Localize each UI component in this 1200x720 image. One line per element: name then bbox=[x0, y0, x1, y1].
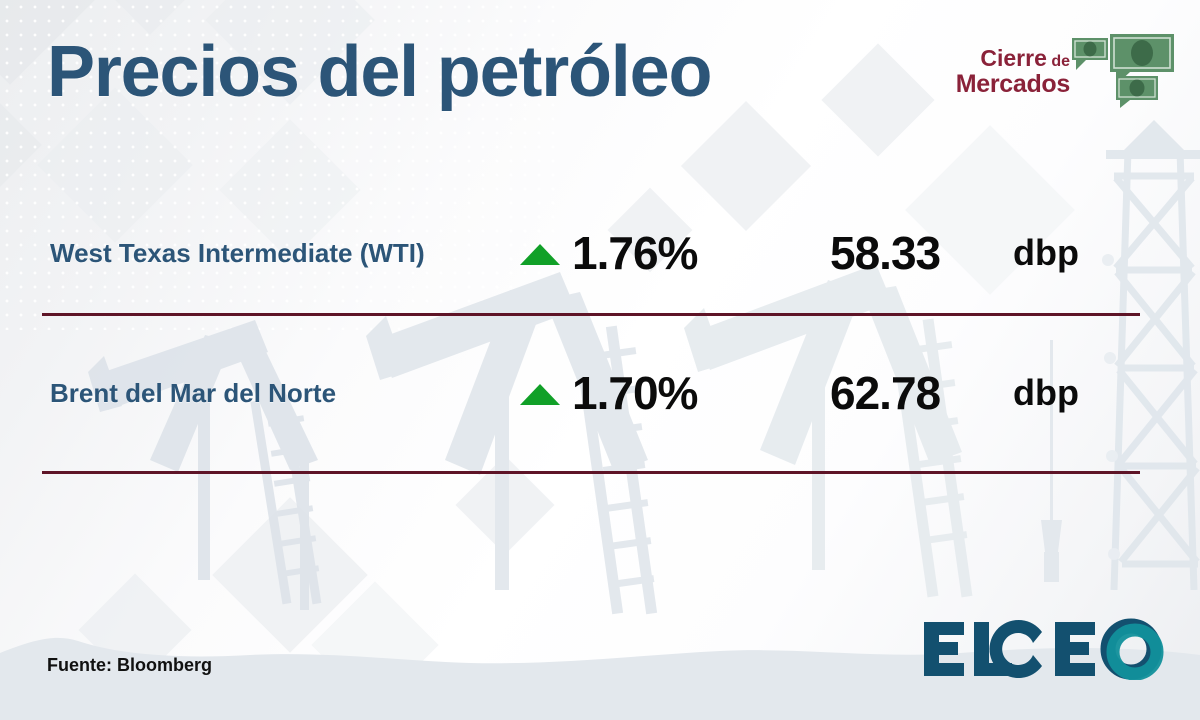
triangle-up-icon bbox=[520, 244, 560, 265]
table-row: Brent del Mar del Norte 1.70% 62.78 dbp bbox=[0, 358, 1200, 428]
source-label: Fuente: Bloomberg bbox=[47, 655, 212, 676]
commodity-name: Brent del Mar del Norte bbox=[50, 378, 336, 409]
triangle-up-icon bbox=[520, 384, 560, 405]
price-value: 62.78 bbox=[830, 366, 940, 420]
commodity-name: West Texas Intermediate (WTI) bbox=[50, 238, 425, 269]
cierre-de-mercados-logo: Cierre de Mercados bbox=[978, 30, 1178, 120]
table-row: West Texas Intermediate (WTI) 1.76% 58.3… bbox=[0, 218, 1200, 288]
elceo-logo-mark bbox=[922, 618, 1172, 680]
change-group: 1.70% bbox=[520, 366, 697, 420]
derrick-tower-icon bbox=[1084, 120, 1200, 590]
price-unit: dbp bbox=[1013, 232, 1079, 274]
price-unit: dbp bbox=[1013, 372, 1079, 414]
page-title: Precios del petróleo bbox=[47, 36, 711, 108]
brand-line-1: Cierre de bbox=[956, 46, 1070, 71]
elceo-logo bbox=[922, 618, 1172, 680]
change-group: 1.76% bbox=[520, 226, 697, 280]
change-percent: 1.76% bbox=[572, 226, 697, 280]
row-divider bbox=[42, 471, 1140, 474]
brand-line-2: Mercados bbox=[956, 71, 1070, 98]
infographic-card: Precios del petróleo Cierre de Mercados bbox=[0, 0, 1200, 720]
money-speech-bubbles-icon bbox=[1070, 30, 1178, 108]
brand-text: Cierre de Mercados bbox=[956, 46, 1070, 97]
change-percent: 1.70% bbox=[572, 366, 697, 420]
price-value: 58.33 bbox=[830, 226, 940, 280]
brand-word-de: de bbox=[1047, 53, 1070, 70]
brand-word-cierre: Cierre bbox=[980, 45, 1046, 71]
row-divider bbox=[42, 313, 1140, 316]
